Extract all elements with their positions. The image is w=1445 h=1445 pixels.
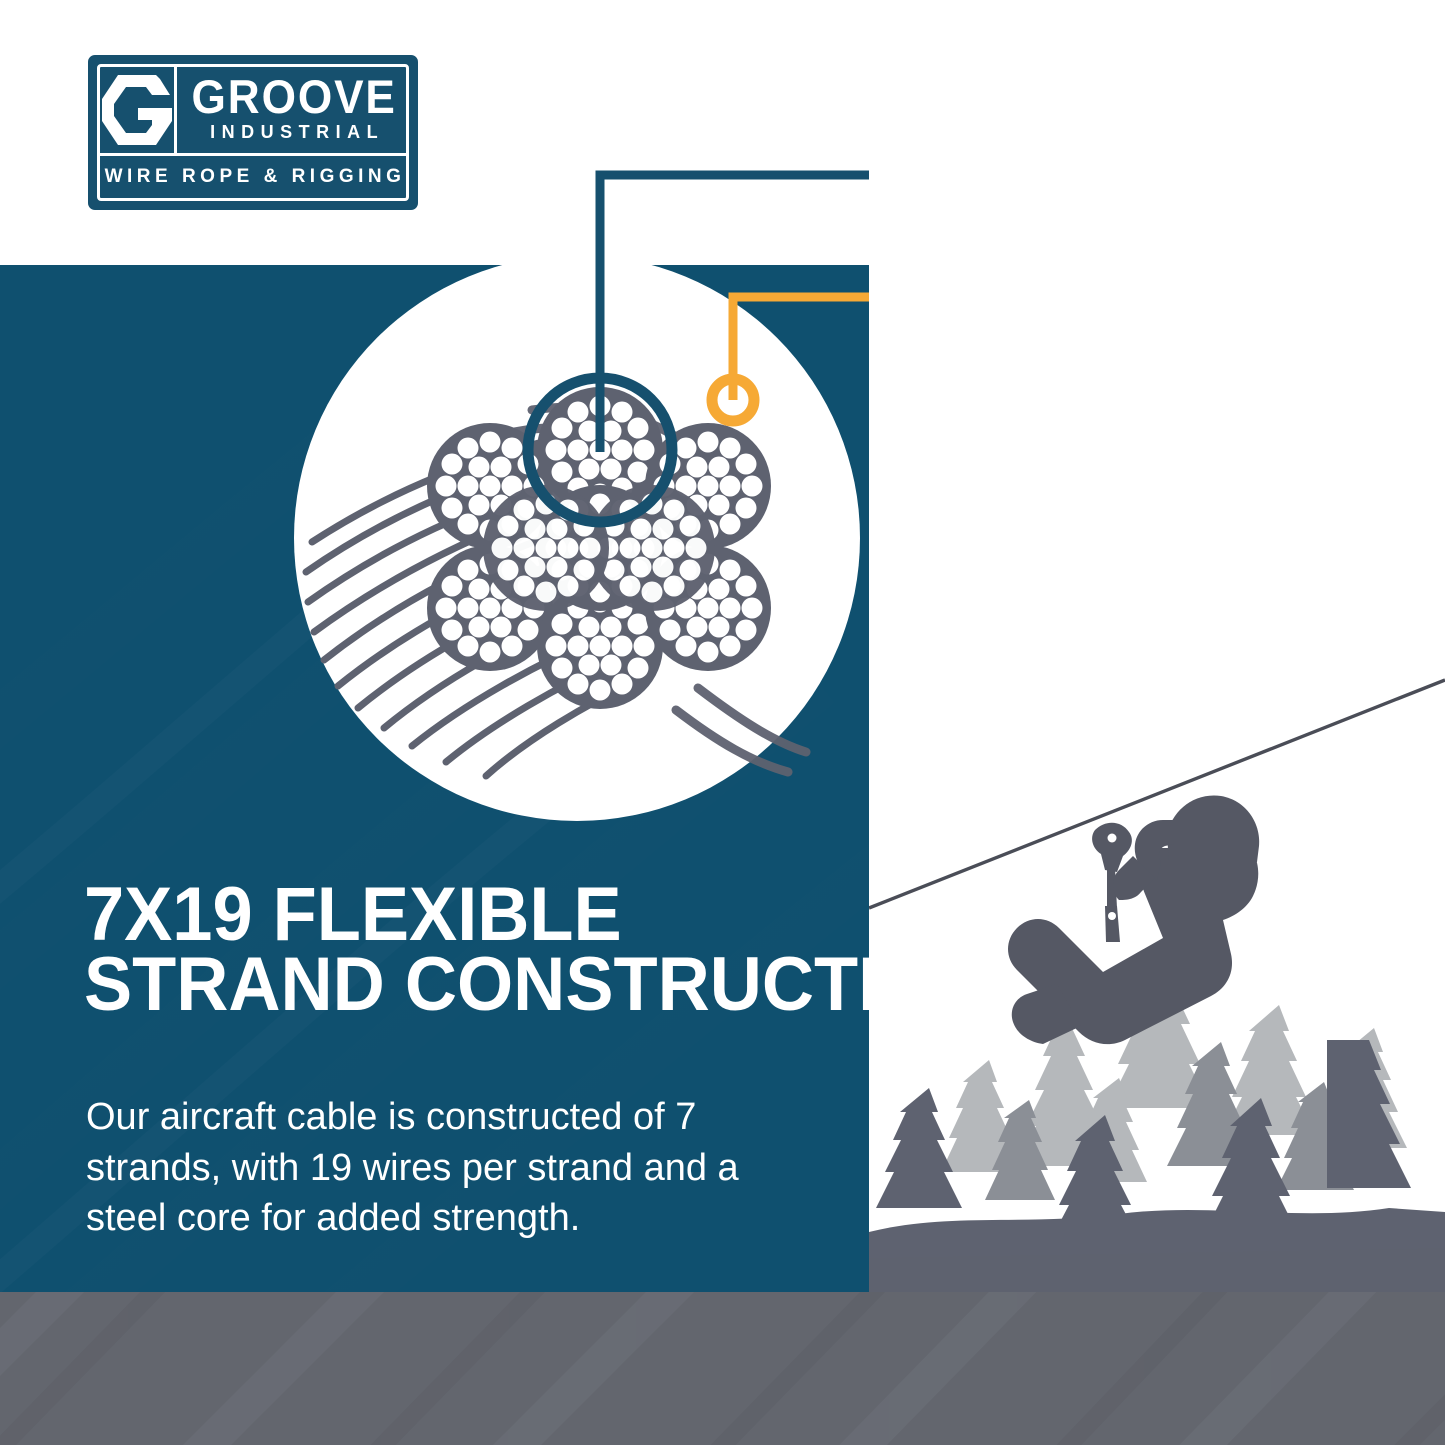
page-title-line-2: STRAND CONSTRUCTION xyxy=(84,950,806,1020)
body-copy: Our aircraft cable is constructed of 7 s… xyxy=(86,1092,746,1244)
page-title-line-1: 7X19 FLEXIBLE xyxy=(84,880,806,950)
zipline-rider-forest-scene xyxy=(869,0,1445,1292)
bottom-bar-stripes xyxy=(0,1292,1445,1445)
bottom-accent-bar xyxy=(0,1292,1445,1445)
zipline-rider xyxy=(1008,795,1259,1044)
infographic-canvas: GROOVE INDUSTRIAL WIRE ROPE & RIGGING xyxy=(0,0,1445,1445)
page-title: 7X19 FLEXIBLE STRAND CONSTRUCTION xyxy=(84,880,806,1020)
connector-line-strands xyxy=(600,175,910,452)
